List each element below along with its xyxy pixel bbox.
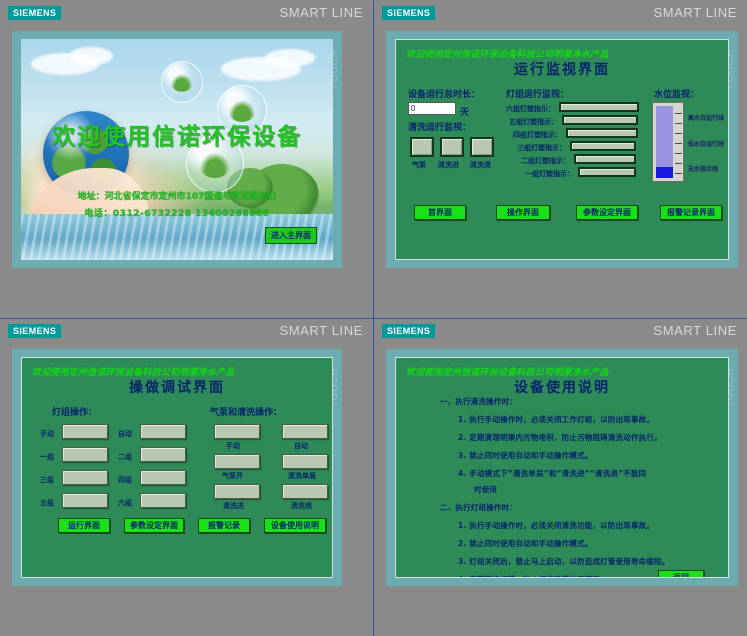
lamp-bar-4 xyxy=(566,128,638,138)
hmi-panel-instructions: SIEMENS SMART LINE TOUCH 欢迎使用定州信诺环保设备科技公… xyxy=(373,318,747,636)
wash-monitor-label: 清洗运行监视： xyxy=(408,120,471,133)
wash-indicator-reverse xyxy=(470,137,494,157)
instruction-line: 2. 禁止同时使用自动和手动操作模式。 xyxy=(458,538,592,549)
siemens-logo: SIEMENS xyxy=(8,324,61,338)
water-level-gauge xyxy=(652,102,684,182)
page-title: 操做调试界面 xyxy=(22,377,332,397)
hmi-panel-operation: SIEMENS SMART LINE TOUCH 欢迎使用定州信诺环保设备科技公… xyxy=(0,318,373,636)
wash-indicator-forward xyxy=(440,137,464,157)
pump-button-auto[interactable] xyxy=(282,424,328,439)
lamp-row-label-6: 六组灯塑指示： xyxy=(506,104,555,114)
smart-line-label: SMART LINE xyxy=(279,5,363,20)
lamp-row-label-4: 四组灯塑指示： xyxy=(513,130,562,140)
welcome-screen: 欢迎使用信诺环保设备 地址：河北省保定市定州市107国道与定无路交口 电话：03… xyxy=(21,39,333,260)
water-level-low-band xyxy=(656,167,673,178)
pump-button-manual[interactable] xyxy=(214,424,260,439)
lamp-button-group4[interactable] xyxy=(140,470,186,485)
lamp-button-group6[interactable] xyxy=(140,493,186,508)
lamp-button-manual[interactable] xyxy=(62,424,108,439)
lamp-btn-label-group3: 三组 xyxy=(40,475,54,485)
lamp-button-auto[interactable] xyxy=(140,424,186,439)
wash-indicator-label-reverse: 清洗退 xyxy=(470,160,491,170)
runtime-value-field[interactable]: 0 xyxy=(408,102,456,115)
operation-screen: 欢迎使用定州信诺环保设备科技公司明渠净水产品 操做调试界面 灯组操作： 手动 自… xyxy=(21,357,333,578)
cloud-icon xyxy=(265,49,315,67)
lamp-bar-6 xyxy=(559,102,639,112)
nav-button-alarms[interactable]: 报警记录界面 xyxy=(660,205,722,220)
screen-bezel: TOUCH 欢迎使用定州信诺环保设备科技公司明渠净水产品 设备使用说明 一、执行… xyxy=(386,349,738,586)
page-title: 运行监视界面 xyxy=(396,59,728,79)
smart-line-label: SMART LINE xyxy=(653,5,737,20)
instruction-line: 3. 禁止同时使用自动和手动操作模式。 xyxy=(458,450,592,461)
lamp-section-label: 灯组操作： xyxy=(52,405,97,418)
siemens-logo: SIEMENS xyxy=(8,6,61,20)
instruction-line: 时使用 xyxy=(474,484,497,495)
lamp-monitor-label: 灯组运行监视： xyxy=(506,87,569,100)
lamp-btn-label-group5: 五组 xyxy=(40,498,54,508)
siemens-logo: SIEMENS xyxy=(382,324,435,338)
screen-bezel: TOUCH 欢迎使用定州信诺环保设备科技公司明渠净水产品 运行监视界面 设备运行… xyxy=(386,31,738,268)
pump-btn-label-wash-single: 清洗单局 xyxy=(288,471,316,481)
pump-button-wash-single[interactable] xyxy=(282,454,328,469)
hmi-panel-welcome: SIEMENS SMART LINE TOUCH 欢迎使用信诺环保设备 xyxy=(0,0,373,318)
smart-line-label: SMART LINE xyxy=(279,323,363,338)
instruction-line: 4. 手动模式下“清洗单局”和“清洗进”“清洗退”不能同 xyxy=(458,468,646,479)
instructions-screen: 欢迎使用定州信诺环保设备科技公司明渠净水产品 设备使用说明 一、执行清洗操作时：… xyxy=(395,357,729,578)
lamp-btn-label-auto: 自动 xyxy=(118,429,132,439)
hmi-panel-monitor: SIEMENS SMART LINE TOUCH 欢迎使用定州信诺环保设备科技公… xyxy=(373,0,747,318)
enter-main-screen-button[interactable]: 进入主界面 xyxy=(265,227,317,244)
page-title: 设备使用说明 xyxy=(396,377,728,397)
instruction-line: 4. 定期更换灯管，防止灯组杀菌效果下降。 xyxy=(458,574,608,578)
wash-indicator-pump xyxy=(410,137,434,157)
lamp-btn-label-manual: 手动 xyxy=(40,429,54,439)
pump-btn-label-wash-reverse: 清洗退 xyxy=(291,501,312,511)
pump-button-wash-forward[interactable] xyxy=(214,484,260,499)
hmi-topbar: SIEMENS SMART LINE xyxy=(0,1,373,27)
nav-button-parameters[interactable]: 参数设定界面 xyxy=(576,205,638,220)
hmi-topbar: SIEMENS SMART LINE xyxy=(374,319,747,345)
hmi-topbar: SIEMENS SMART LINE xyxy=(374,1,747,27)
lamp-btn-label-group4: 四组 xyxy=(118,475,132,485)
back-button[interactable]: 返回 xyxy=(658,570,704,578)
lamp-btn-label-group2: 二组 xyxy=(118,452,132,462)
lamp-row-label-3: 三组灯塑指示： xyxy=(517,143,566,153)
nav-button-home[interactable]: 首界面 xyxy=(414,205,466,220)
smart-line-label: SMART LINE xyxy=(653,323,737,338)
lamp-row-label-2: 二组灯塑指示： xyxy=(521,156,570,166)
water-level-label: 水位监视： xyxy=(654,87,699,100)
instruction-line: 二、执行灯组操作时： xyxy=(440,502,517,513)
water-mark-high: 高水位运行线 xyxy=(688,113,724,122)
lamp-btn-label-group1: 一组 xyxy=(40,452,54,462)
siemens-logo: SIEMENS xyxy=(382,6,435,20)
nav-button-alarm-log[interactable]: 报警记录 xyxy=(198,518,250,533)
pump-btn-label-wash-forward: 清洗进 xyxy=(223,501,244,511)
water-mark-empty: 无水指示线 xyxy=(688,164,718,173)
pump-btn-label-auto: 自动 xyxy=(294,441,308,451)
instruction-line: 3. 灯组关闭后，禁止马上启动，以防造成灯管使用寿命缩短。 xyxy=(458,556,669,567)
lamp-bar-2 xyxy=(574,154,636,164)
runtime-unit: 天 xyxy=(460,105,469,118)
lamp-row-label-5: 五组灯塑指示： xyxy=(509,117,558,127)
lamp-bar-5 xyxy=(562,115,638,125)
welcome-title: 欢迎使用信诺环保设备 xyxy=(21,117,333,151)
company-phone: 电话：0312-6732228 13400288888 xyxy=(21,206,333,219)
nav-button-run-screen[interactable]: 运行界面 xyxy=(58,518,110,533)
nav-button-parameters[interactable]: 参数设定界面 xyxy=(124,518,184,533)
lamp-btn-label-group6: 六组 xyxy=(118,498,132,508)
instruction-line: 2. 定期清理明渠内污物堆积，防止污物阻碍清洗动作执行。 xyxy=(458,432,662,443)
lamp-bar-1 xyxy=(578,167,636,177)
wash-indicator-label-pump: 气泵 xyxy=(412,160,426,170)
pump-btn-label-manual: 手动 xyxy=(226,441,240,451)
lamp-bar-3 xyxy=(570,141,636,151)
instruction-line: 一、执行清洗操作时： xyxy=(440,396,517,407)
company-address: 地址：河北省保定市定州市107国道与定无路交口 xyxy=(21,189,333,202)
runtime-label: 设备运行总时长： xyxy=(408,87,480,100)
screenshot-grid: SIEMENS SMART LINE TOUCH 欢迎使用信诺环保设备 xyxy=(0,0,747,636)
pump-btn-label-pump-on: 气泵开 xyxy=(222,471,243,481)
lamp-button-group5[interactable] xyxy=(62,493,108,508)
instruction-line: 1. 执行手动操作时，必须关闭清洗功能，以防出现事故。 xyxy=(458,520,654,531)
lamp-button-group2[interactable] xyxy=(140,447,186,462)
nav-button-instructions[interactable]: 设备使用说明 xyxy=(264,518,326,533)
screen-bezel: TOUCH 欢迎使用定州信诺环保设备科技公司明渠净水产品 操做调试界面 灯组操作… xyxy=(12,349,342,586)
monitor-screen: 欢迎使用定州信诺环保设备科技公司明渠净水产品 运行监视界面 设备运行总时长： 0… xyxy=(395,39,729,260)
screen-bezel: TOUCH 欢迎使用信诺环保设备 地址：河北省保定市定州市107国道与定无路交口… xyxy=(12,31,342,268)
pump-section-label: 气泵和清洗操作： xyxy=(210,405,282,418)
wash-indicator-label-forward: 清洗进 xyxy=(438,160,459,170)
lamp-button-group3[interactable] xyxy=(62,470,108,485)
water-mark-low: 低水位运行线 xyxy=(688,139,724,148)
cloud-icon xyxy=(69,47,113,65)
pump-button-wash-reverse[interactable] xyxy=(282,484,328,499)
hmi-topbar: SIEMENS SMART LINE xyxy=(0,319,373,345)
lamp-row-label-1: 一组灯塑指示： xyxy=(525,169,574,179)
nav-button-operation[interactable]: 操作界面 xyxy=(496,205,550,220)
bubble-sprout-icon xyxy=(161,61,203,103)
pump-button-pump-on[interactable] xyxy=(214,454,260,469)
instruction-line: 1. 执行手动操作时，必须关闭工作灯组，以防出现事故。 xyxy=(458,414,654,425)
lamp-button-group1[interactable] xyxy=(62,447,108,462)
